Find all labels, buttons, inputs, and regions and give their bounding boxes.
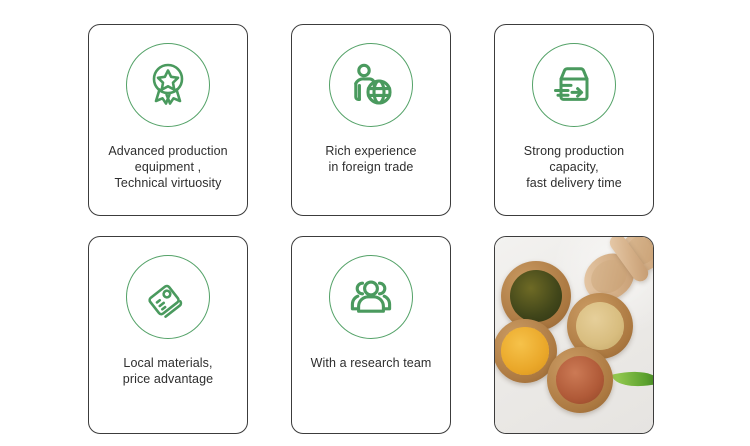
bowl-peanuts [547, 347, 613, 413]
feature-card-advanced-production[interactable]: Advanced production equipment , Technica… [88, 24, 248, 216]
product-photo [495, 237, 653, 433]
feature-card-research-team[interactable]: With a research team [291, 236, 451, 434]
feature-card-production-capacity[interactable]: Strong production capacity, fast deliver… [494, 24, 654, 216]
people-group-icon [329, 255, 413, 339]
price-tags-icon [126, 255, 210, 339]
feature-card-label: Rich experience in foreign trade [319, 143, 422, 175]
person-globe-icon [329, 43, 413, 127]
feature-grid: Advanced production equipment , Technica… [88, 24, 654, 434]
peanuts [556, 356, 605, 405]
mung-beans [510, 270, 562, 322]
delivery-box-arrow-icon [532, 43, 616, 127]
feature-grid-board: Advanced production equipment , Technica… [0, 0, 750, 446]
feature-card-local-materials[interactable]: Local materials, price advantage [88, 236, 248, 434]
yellow-lentils [501, 327, 548, 374]
green-leaf [611, 364, 654, 395]
feature-card-foreign-trade[interactable]: Rich experience in foreign trade [291, 24, 451, 216]
feature-card-label: With a research team [305, 355, 438, 371]
award-ribbon-icon [126, 43, 210, 127]
feature-card-label: Advanced production equipment , Technica… [102, 143, 233, 191]
product-photo-card[interactable] [494, 236, 654, 434]
feature-card-label: Local materials, price advantage [117, 355, 219, 387]
soybeans [576, 302, 625, 351]
feature-card-label: Strong production capacity, fast deliver… [495, 143, 653, 191]
